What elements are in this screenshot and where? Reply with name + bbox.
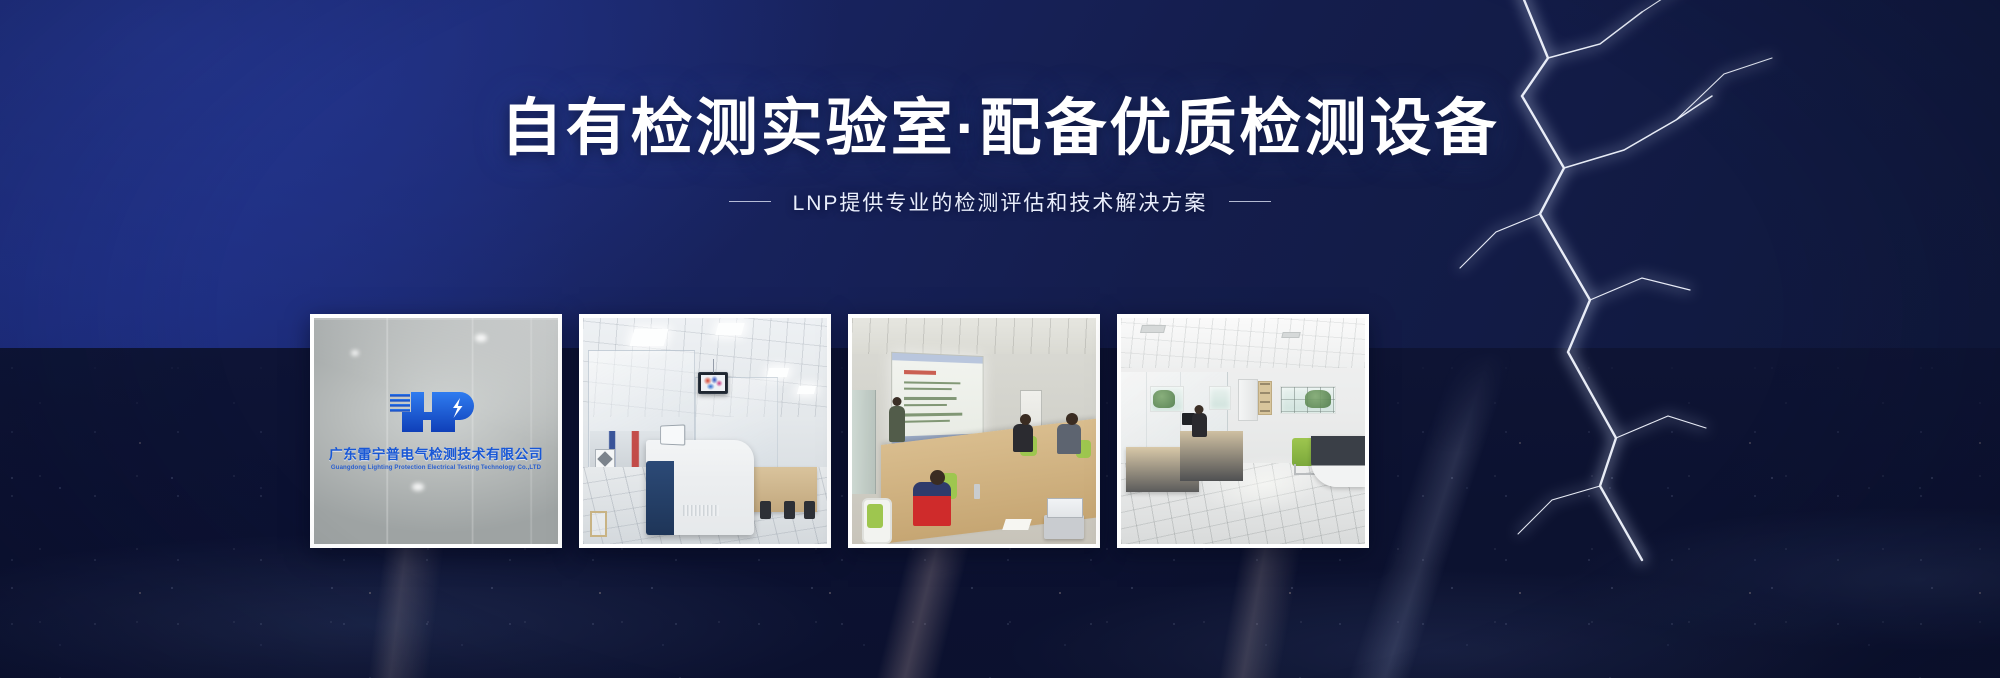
attendee-person [1057, 424, 1081, 454]
meeting-room-door [852, 390, 876, 494]
slide-text-line [904, 381, 961, 384]
storage-cabinet [1238, 379, 1258, 421]
photo-testing-laboratory [583, 318, 827, 544]
attendee-person-front [913, 482, 951, 526]
photo-office-area [1121, 318, 1365, 544]
meeting-ceiling [852, 318, 1096, 354]
attendee-person [1013, 424, 1033, 452]
bookshelf [1258, 381, 1272, 415]
tree-foliage-icon [1153, 390, 1175, 408]
projection-screen [892, 352, 984, 447]
floor-light-reflection-icon [412, 483, 424, 491]
ceiling-panel-light-icon [797, 386, 816, 394]
office-chair-icon [784, 501, 795, 519]
page-title: 自有检测实验室·配备优质检测设备 [0, 96, 2000, 163]
gallery-card-company-logo-wall[interactable]: 广东雷宁普电气检测技术有限公司 Guangdong Lighting Prote… [310, 314, 562, 548]
slide-text-line [904, 387, 952, 390]
office-desk-rear [1180, 431, 1243, 481]
ceiling-vent-icon [1281, 332, 1300, 338]
photo-company-logo-wall: 广东雷宁普电气检测技术有限公司 Guangdong Lighting Prote… [314, 318, 558, 544]
lnp-logo-icon [388, 386, 484, 432]
white-green-chair-icon [862, 498, 892, 544]
wall-display-screen [698, 372, 728, 394]
photo-gallery: 广东雷宁普电气检测技术有限公司 Guangdong Lighting Prote… [310, 314, 1650, 548]
office-worker-person [1192, 413, 1207, 437]
gallery-card-training-meeting-room[interactable] [848, 314, 1100, 548]
gallery-card-office-area[interactable] [1117, 314, 1369, 548]
slide-text-line [904, 413, 962, 416]
page-subtitle: LNP提供专业的检测评估和技术解决方案 [793, 187, 1208, 217]
office-chair-icon [760, 501, 771, 519]
gallery-card-testing-laboratory[interactable] [579, 314, 831, 548]
office-chair-icon [804, 501, 815, 519]
ceiling-panel-light-icon [629, 329, 668, 346]
company-name-en: Guangdong Lighting Protection Electrical… [329, 464, 544, 471]
ceiling-light-reflection-icon [475, 334, 487, 342]
reception-counter [1311, 436, 1365, 488]
slide-text-line [904, 419, 950, 422]
lab-control-console [646, 440, 753, 535]
logo-wall-caption: 广东雷宁普电气检测技术有限公司 Guangdong Lighting Prote… [329, 443, 544, 471]
company-name-cn: 广东雷宁普电气检测技术有限公司 [326, 443, 545, 463]
display-content [701, 375, 725, 391]
console-monitor-icon [660, 424, 685, 445]
window-icon [1209, 386, 1231, 410]
lab-specimen-frame [595, 449, 615, 469]
slide-heading [904, 370, 936, 375]
ceiling-vent-icon [1140, 325, 1166, 333]
wall-light-reflection-icon [351, 350, 359, 356]
rule-left-icon [729, 201, 771, 202]
slide-text-line [904, 404, 947, 406]
lab-stool-icon [590, 511, 607, 537]
hero-text-block: 自有检测实验室·配备优质检测设备 LNP提供专业的检测评估和技术解决方案 [0, 0, 2000, 217]
hero-banner: 自有检测实验室·配备优质检测设备 LNP提供专业的检测评估和技术解决方案 [0, 0, 2000, 678]
laptop-icon [1044, 515, 1084, 539]
photo-training-meeting-room [852, 318, 1096, 544]
documents-on-table [1002, 519, 1032, 530]
presenter-person [889, 406, 905, 442]
ceiling-panel-light-icon [715, 323, 744, 335]
tree-foliage-icon [1305, 390, 1331, 408]
thermos-cup-icon [974, 484, 980, 499]
subtitle-row: LNP提供专业的检测评估和技术解决方案 [0, 187, 2000, 217]
slide-title-bar [893, 353, 983, 364]
ceiling-panel-light-icon [767, 368, 790, 377]
rule-right-icon [1229, 201, 1271, 202]
slide-text-line [904, 398, 957, 400]
